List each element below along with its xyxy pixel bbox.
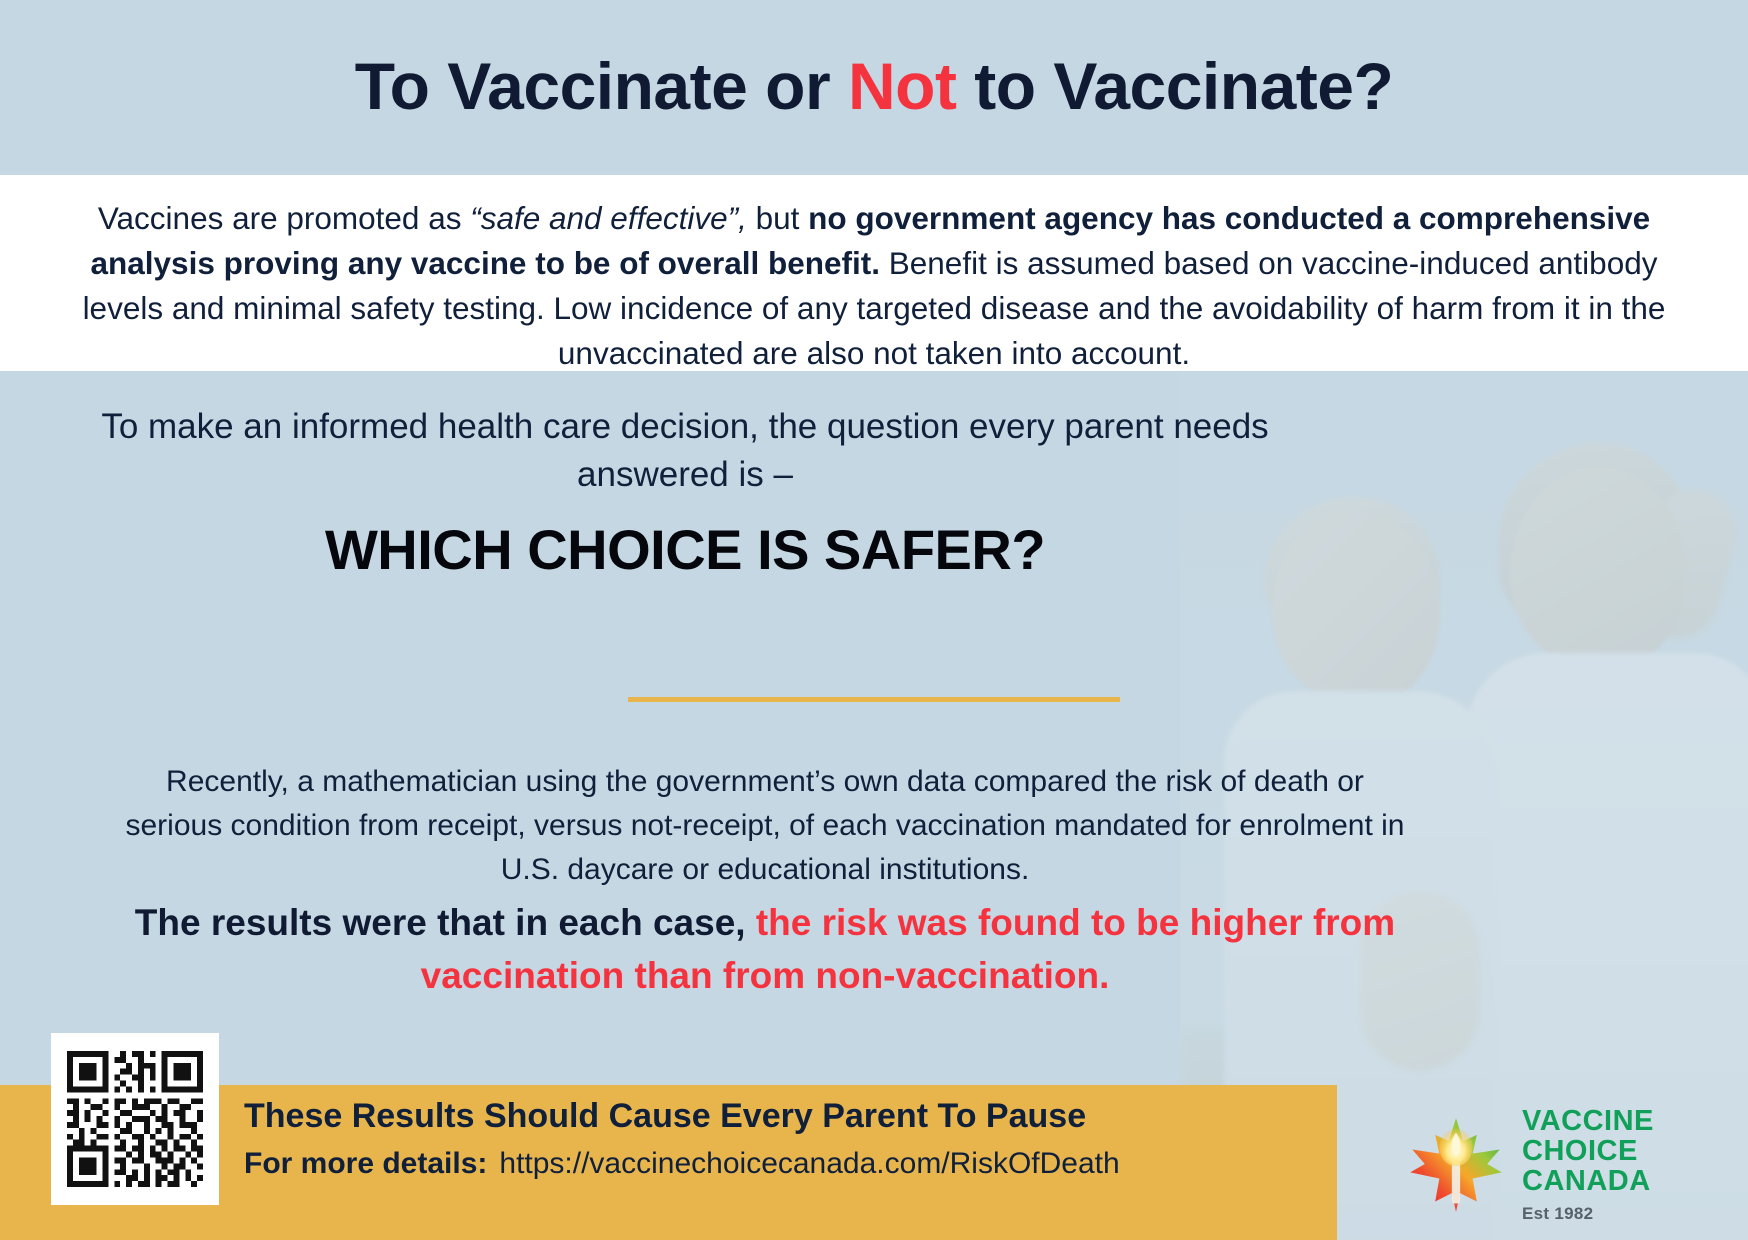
intro-paragraph: Vaccines are promoted as “safe and effec… <box>70 196 1678 376</box>
results-statement: The results were that in each case, the … <box>120 896 1410 1002</box>
logo-line-3: CANADA <box>1522 1166 1654 1196</box>
intro-segment-1: Vaccines are promoted as <box>98 200 470 236</box>
footer-details-label: For more details: <box>244 1147 487 1180</box>
results-dark-text: The results were that in each case, <box>135 902 756 943</box>
study-paragraph: Recently, a mathematician using the gove… <box>120 660 1410 892</box>
intro-quote-safe-and-effective: “safe and effective”, <box>470 200 747 236</box>
infographic-poster: To Vaccinate or Not to Vaccinate? Vaccin… <box>0 0 1748 1240</box>
title-highlight-not: Not <box>848 49 956 123</box>
lead-in-text: To make an informed health care decision… <box>100 403 1270 499</box>
title-part-1: To Vaccinate or <box>355 49 848 123</box>
footer-url[interactable]: https://vaccinechoicecanada.com/RiskOfDe… <box>499 1147 1119 1180</box>
qr-code-image <box>61 1045 209 1193</box>
intro-segment-2: but <box>747 200 808 236</box>
vaccine-choice-canada-logo: VACCINE CHOICE CANADA Est 1982 <box>1404 1100 1734 1228</box>
logo-established: Est 1982 <box>1522 1205 1654 1222</box>
page-title: To Vaccinate or Not to Vaccinate? <box>0 48 1748 124</box>
logo-wordmark: VACCINE CHOICE CANADA Est 1982 <box>1522 1106 1654 1222</box>
footer-headline: These Results Should Cause Every Parent … <box>244 1097 1086 1136</box>
main-headline: WHICH CHOICE IS SAFER? <box>100 517 1270 582</box>
maple-leaf-candle-icon <box>1404 1112 1508 1216</box>
title-part-2: to Vaccinate? <box>956 49 1393 123</box>
qr-code[interactable] <box>51 1033 219 1205</box>
logo-line-2: CHOICE <box>1522 1136 1654 1166</box>
logo-line-1: VACCINE <box>1522 1106 1654 1136</box>
footer-details-line: For more details:https://vaccinechoiceca… <box>244 1147 1120 1181</box>
maple-leaf-icon <box>1404 1112 1508 1216</box>
